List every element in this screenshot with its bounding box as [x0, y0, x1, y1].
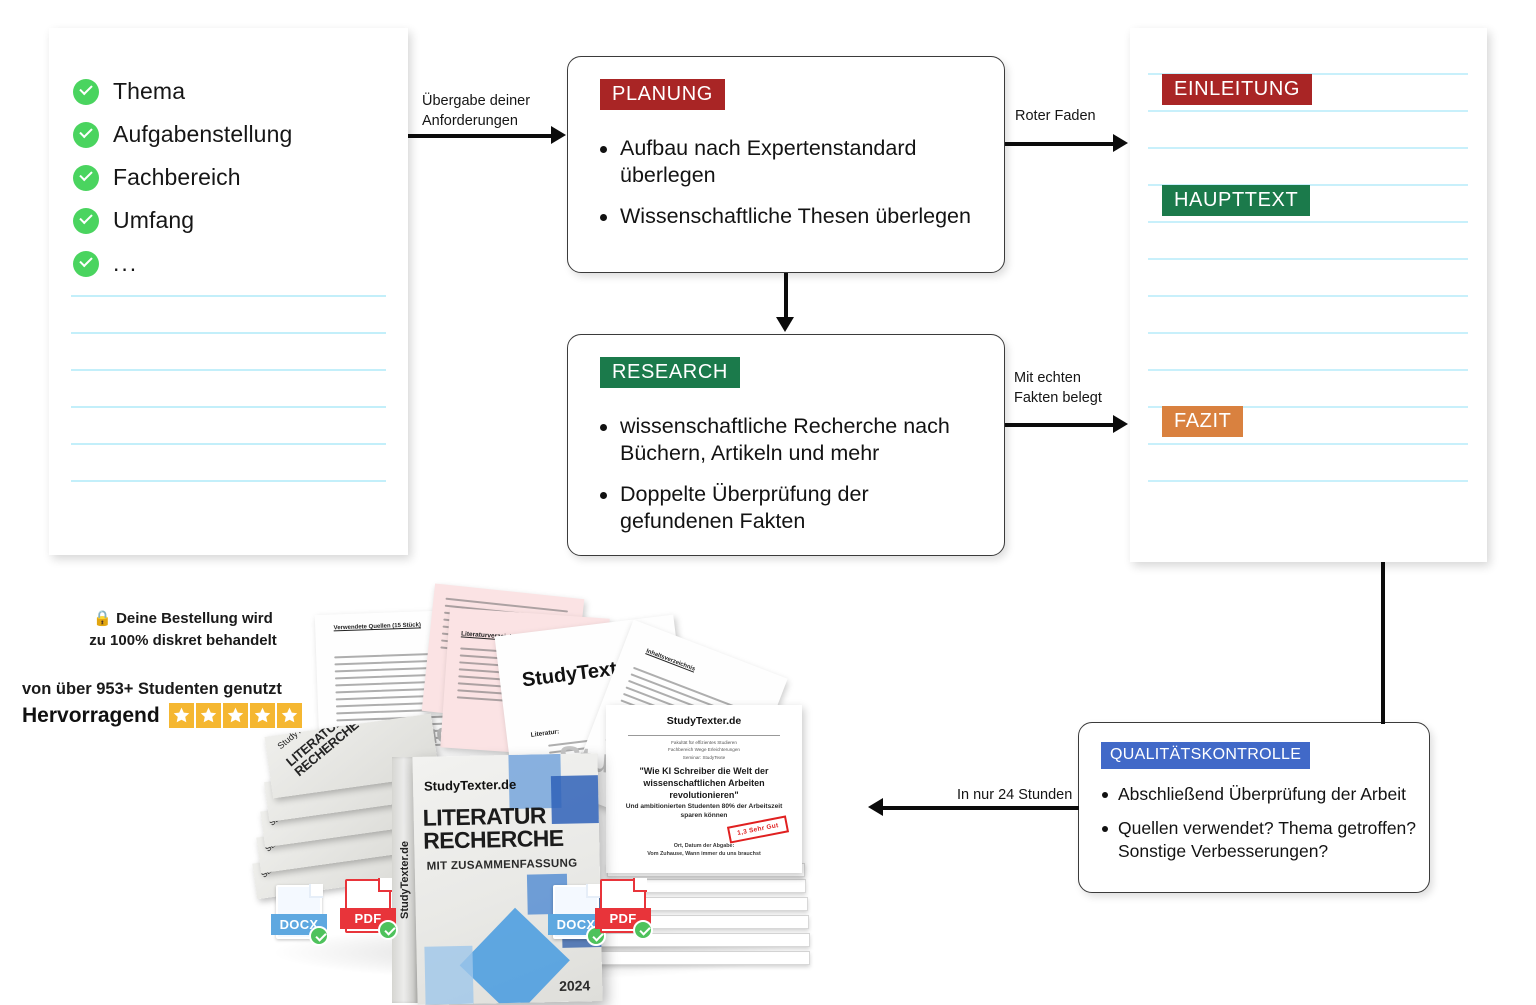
book-cover: StudyTexter.de LITERATUR RECHERCHE MIT Z…: [412, 753, 602, 1005]
file-fold-icon: [378, 878, 392, 892]
connector-fakten-label: Mit echten Fakten belegt: [1014, 369, 1139, 408]
list-item-label: Umfang: [113, 207, 194, 234]
list-item: wissenschaftliche Recherche nach Büchern…: [596, 413, 986, 468]
brand-logo-text: StudyText: [521, 658, 618, 692]
cover-meta-3: Seminar: StudyTexte: [683, 755, 725, 760]
lock-icon: 🔒: [93, 610, 112, 627]
book-title: LITERATUR RECHERCHE: [422, 803, 595, 852]
brand-logo-text: StudyTexter.de: [424, 777, 517, 794]
research-badge: RESEARCH: [600, 357, 740, 388]
ruled-line: [71, 480, 386, 482]
planung-badge-wrap: PLANUNG: [600, 79, 725, 110]
haupttext-badge-wrap: HAUPTTEXT: [1162, 185, 1310, 216]
list-item: Abschließend Überprüfung der Arbeit: [1099, 783, 1417, 806]
docx-badge: DOCX: [553, 885, 599, 939]
connector-handover-line: [408, 134, 553, 138]
file-fold-icon: [586, 884, 600, 898]
connector-fakten-line: [1005, 423, 1115, 427]
check-icon: [73, 122, 99, 148]
list-item-label: Fachbereich: [113, 164, 241, 191]
ruled-line: [1148, 443, 1468, 445]
ruled-line: [71, 295, 386, 297]
qk-badge-wrap: QUALITÄTSKONTROLLE: [1101, 742, 1310, 769]
check-icon: [73, 251, 99, 277]
connector-roter-faden-label: Roter Faden: [1015, 107, 1135, 127]
file-fold-icon: [633, 878, 647, 892]
star-icon: [169, 703, 194, 728]
planung-bullets: Aufbau nach Expertenstandard überlegen W…: [596, 135, 986, 243]
flowchart-canvas: Thema Aufgabenstellung Fachbereich Umfan…: [0, 0, 1536, 994]
list-item-label: Thema: [113, 78, 185, 105]
qualitaetskontrolle-box: QUALITÄTSKONTROLLE Abschließend Überprüf…: [1078, 722, 1430, 893]
connector-panel-qk-line: [1381, 562, 1385, 724]
einleitung-badge: EINLEITUNG: [1162, 74, 1312, 105]
cover-footer-1: Ort, Datum der Abgabe:: [674, 843, 735, 849]
paper-stack: StudyTexter.de Fakultät für effizientes …: [590, 705, 840, 975]
fazit-badge: FAZIT: [1162, 406, 1243, 437]
check-icon: [73, 165, 99, 191]
brand-logo-text: StudyTexter.de: [667, 715, 742, 727]
ruled-line: [1148, 480, 1468, 482]
connector-roter-faden-arrow: [1113, 134, 1128, 152]
ruled-line: [1148, 110, 1468, 112]
qualitaetskontrolle-badge: QUALITÄTSKONTROLLE: [1101, 742, 1310, 769]
connector-planung-research-arrow: [776, 317, 794, 332]
ruled-line: [1148, 258, 1468, 260]
list-item: Wissenschaftliche Thesen überlegen: [596, 203, 986, 230]
cover-footer: Ort, Datum der Abgabe: Vom Zuhause, Wann…: [624, 842, 784, 859]
brand-logo: StudyTexter.de: [424, 777, 517, 794]
connector-roter-faden-line: [1005, 142, 1115, 146]
fazit-badge-wrap: FAZIT: [1162, 406, 1243, 437]
list-item: Thema: [73, 70, 393, 113]
product-montage: Verwendete Quellen (15 Stück) StudyTexte…: [240, 585, 880, 985]
check-icon: [378, 920, 398, 940]
deco-square: [424, 946, 473, 1005]
rating-word: Hervorragend: [22, 704, 160, 728]
list-item: ...: [73, 242, 393, 285]
ruled-line: [71, 332, 386, 334]
brand-logo: StudyText: [521, 658, 618, 692]
list-item-label: Aufgabenstellung: [113, 121, 292, 148]
ruled-line: [1148, 147, 1468, 149]
ruled-line: [71, 406, 386, 408]
ruled-line: [1148, 332, 1468, 334]
ruled-line: [1148, 221, 1468, 223]
cover-footer-2: Vom Zuhause, Wann immer du uns brauchst: [647, 851, 761, 857]
connector-handover-label: Übergabe deiner Anforderungen: [422, 92, 562, 131]
brand-logo: StudyTexter.de: [667, 715, 742, 727]
pdf-badge: PDF: [600, 879, 646, 933]
cover-meta-2: Fachbereich Wege Erleichterungen: [668, 747, 740, 752]
research-bullets: wissenschaftliche Recherche nach Büchern…: [596, 413, 986, 548]
check-icon: [73, 79, 99, 105]
ruled-line: [71, 443, 386, 445]
planung-badge: PLANUNG: [600, 79, 725, 110]
stack-layer: [598, 933, 810, 947]
ruled-line: [71, 369, 386, 371]
connector-turnaround-line: [883, 806, 1079, 810]
requirements-card: Thema Aufgabenstellung Fachbereich Umfan…: [49, 28, 408, 555]
star-icon: [196, 703, 221, 728]
book-year: 2024: [559, 977, 590, 994]
ruled-line: [1148, 369, 1468, 371]
cover-page: StudyTexter.de Fakultät für effizientes …: [606, 705, 802, 873]
list-item: Aufgabenstellung: [73, 113, 393, 156]
research-box: RESEARCH wissenschaftliche Recherche nac…: [567, 334, 1005, 556]
check-icon: [309, 926, 329, 946]
einleitung-badge-wrap: EINLEITUNG: [1162, 74, 1312, 105]
divider: [628, 735, 780, 736]
list-item: Doppelte Überprüfung der gefundenen Fakt…: [596, 481, 986, 536]
cover-title: "Wie KI Schreiber die Welt der wissensch…: [620, 765, 788, 801]
cover-meta: Fakultät für effizientes Studieren Fachb…: [626, 739, 782, 761]
connector-turnaround-label: In nur 24 Stunden: [957, 786, 1087, 806]
list-item: Fachbereich: [73, 156, 393, 199]
connector-fakten-arrow: [1113, 415, 1128, 433]
requirements-checklist: Thema Aufgabenstellung Fachbereich Umfan…: [73, 70, 393, 285]
stack-layer: [594, 951, 810, 965]
list-item: Aufbau nach Expertenstandard überlegen: [596, 135, 986, 190]
cover-meta-1: Fakultät für effizientes Studieren: [671, 740, 737, 745]
book-subtitle: MIT ZUSAMMENFASSUNG: [427, 858, 578, 873]
cover-subtitle: Und ambitionierten Studenten 80% der Arb…: [624, 803, 784, 821]
haupttext-badge: HAUPTTEXT: [1162, 185, 1310, 216]
list-item-label: ...: [113, 250, 138, 277]
check-icon: [633, 920, 653, 940]
list-item: Quellen verwendet? Thema getroffen? Sons…: [1099, 817, 1417, 863]
book-title-line-2: RECHERCHE: [423, 824, 564, 853]
ruled-line: [1148, 295, 1468, 297]
brand-logo-text-wrap: StudyTexter.de: [424, 777, 517, 794]
research-badge-wrap: RESEARCH: [600, 357, 740, 388]
connector-planung-research-line: [784, 273, 788, 319]
brand-logo-sheet: StudyText: [521, 658, 618, 692]
file-fold-icon: [309, 884, 323, 898]
list-item: Umfang: [73, 199, 393, 242]
planung-box: PLANUNG Aufbau nach Expertenstandard übe…: [567, 56, 1005, 273]
book-spine-text: StudyTexter.de: [399, 841, 411, 919]
brand-logo-text-wrap: StudyTexter.de: [667, 715, 742, 727]
qk-bullets: Abschließend Überprüfung der Arbeit Quel…: [1099, 783, 1417, 873]
docx-badge: DOCX: [276, 885, 322, 939]
check-icon: [73, 208, 99, 234]
pdf-badge: PDF: [345, 879, 391, 933]
document-panel: EINLEITUNG HAUPTTEXT FAZIT: [1130, 28, 1487, 562]
